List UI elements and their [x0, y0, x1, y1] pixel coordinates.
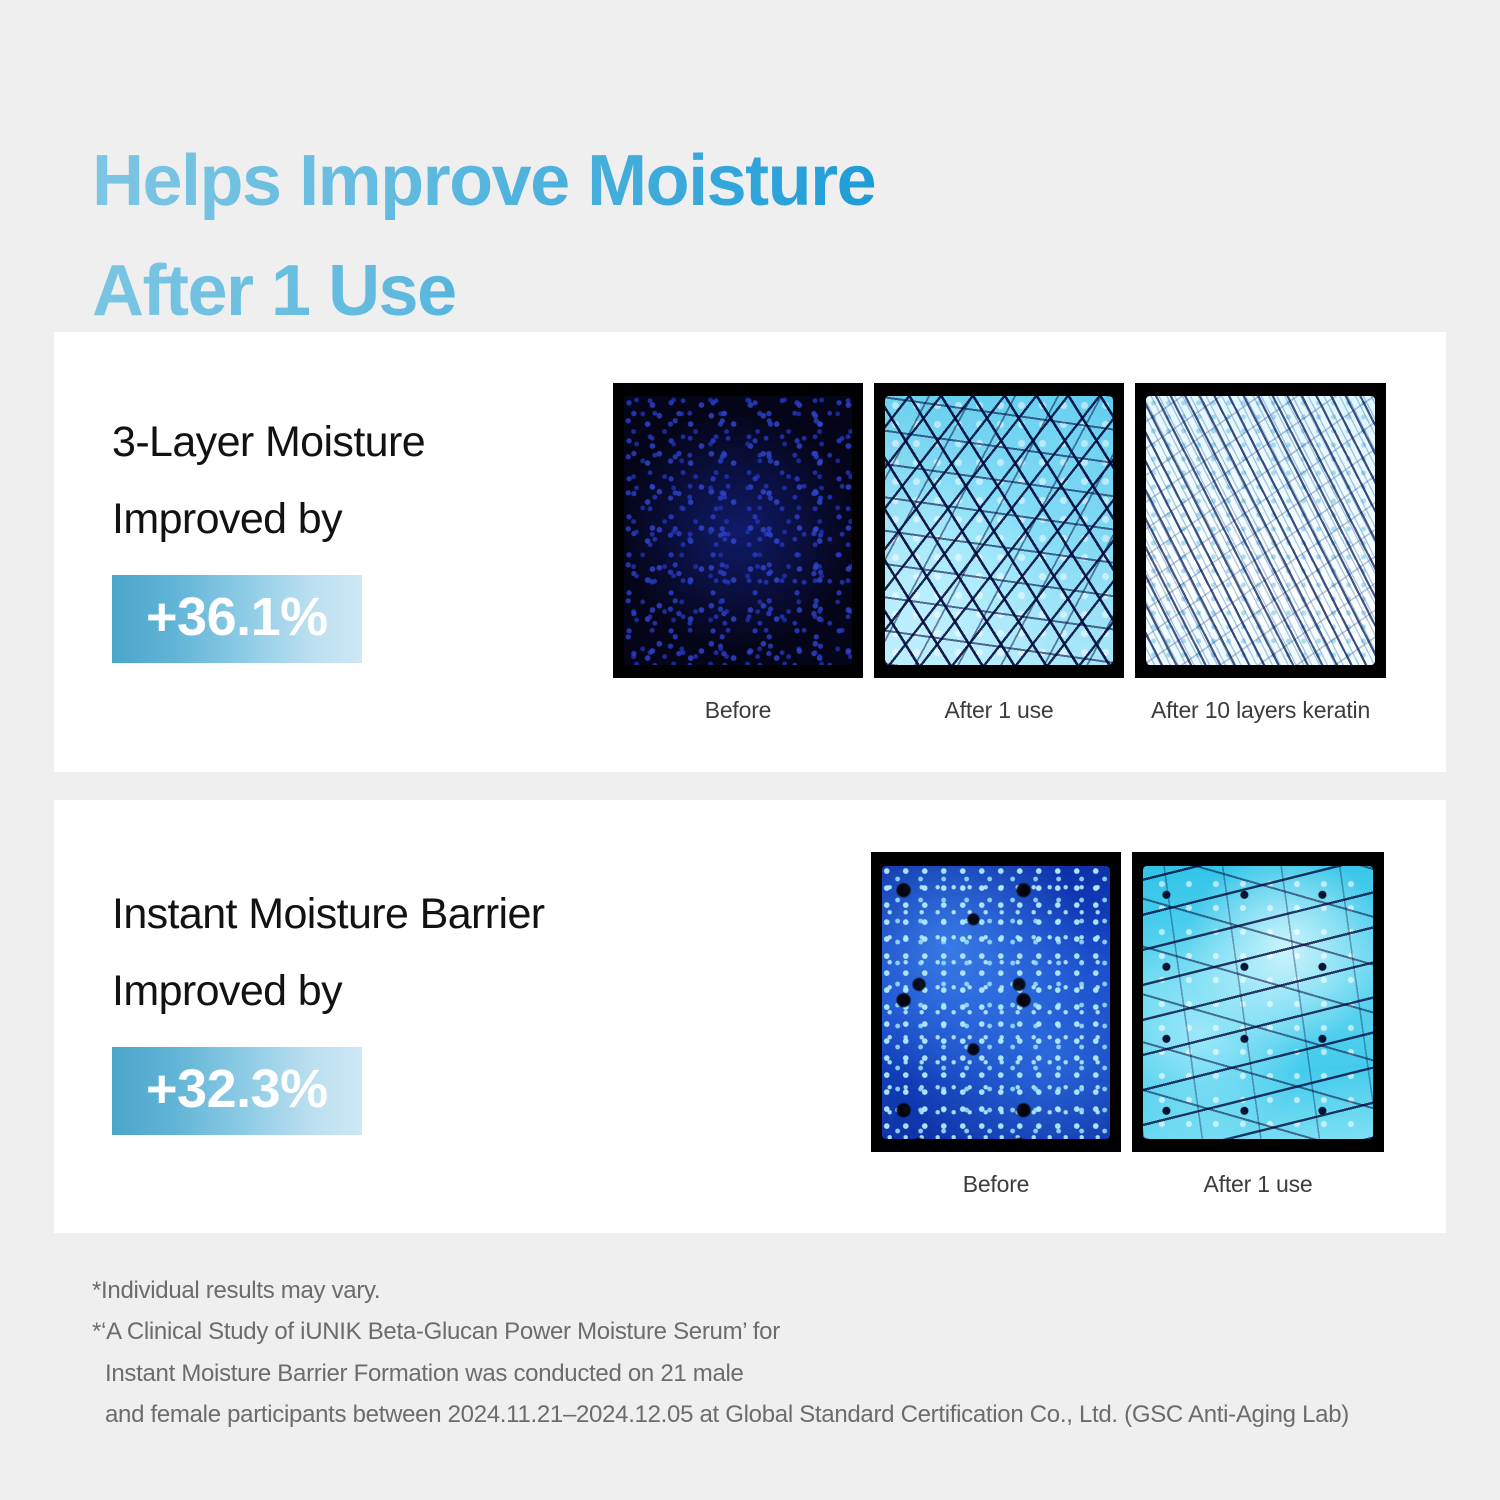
card-2-stat-badge: +32.3% — [112, 1047, 362, 1135]
footnote-line-4: and female participants between 2024.11.… — [92, 1394, 1422, 1435]
micrograph-after-1-use-image — [1132, 852, 1384, 1152]
texture-network — [885, 396, 1113, 664]
card-1-stat-badge: +36.1% — [112, 575, 362, 663]
panel-caption: After 1 use — [1203, 1171, 1312, 1198]
footnotes-block: *Individual results may vary. *‘A Clinic… — [92, 1270, 1422, 1435]
panel-caption: Before — [963, 1171, 1030, 1198]
texture-network — [1146, 396, 1374, 664]
panel-caption: Before — [705, 697, 772, 724]
card-2-panel-group: Before After 1 use — [871, 852, 1384, 1198]
panel-after-1-use: After 1 use — [1132, 852, 1384, 1198]
panel-before: Before — [871, 852, 1121, 1198]
texture-voids — [882, 866, 1110, 1139]
result-card-3-layer-moisture: 3-Layer Moisture Improved by +36.1% Befo… — [54, 332, 1446, 772]
page-title: Helps Improve Moisture After 1 Use — [92, 126, 1092, 346]
micrograph-after-10-layers-keratin-image — [1135, 383, 1386, 678]
micrograph-before-image — [613, 383, 863, 678]
card-1-title: 3-Layer Moisture Improved by — [112, 404, 425, 557]
panel-caption: After 10 layers keratin — [1151, 697, 1370, 724]
footnote-line-2: *‘A Clinical Study of iUNIK Beta-Glucan … — [92, 1311, 1422, 1352]
card-1-text-block: 3-Layer Moisture Improved by +36.1% — [112, 404, 425, 663]
footnote-line-3: Instant Moisture Barrier Formation was c… — [92, 1353, 1422, 1394]
panel-after-1-use: After 1 use — [874, 383, 1124, 724]
micrograph-after-1-use-image — [874, 383, 1124, 678]
result-card-instant-moisture-barrier: Instant Moisture Barrier Improved by +32… — [54, 800, 1446, 1233]
texture-speckle — [624, 396, 852, 664]
panel-caption: After 1 use — [944, 697, 1053, 724]
footnote-line-1: *Individual results may vary. — [92, 1270, 1422, 1311]
panel-after-10-layers-keratin: After 10 layers keratin — [1135, 383, 1386, 724]
card-2-text-block: Instant Moisture Barrier Improved by +32… — [112, 876, 544, 1135]
card-1-panel-group: Before After 1 use — [613, 383, 1386, 724]
texture-filaments — [1143, 866, 1372, 1139]
panel-before: Before — [613, 383, 863, 724]
micrograph-before-image — [871, 852, 1121, 1152]
card-2-title: Instant Moisture Barrier Improved by — [112, 876, 544, 1029]
